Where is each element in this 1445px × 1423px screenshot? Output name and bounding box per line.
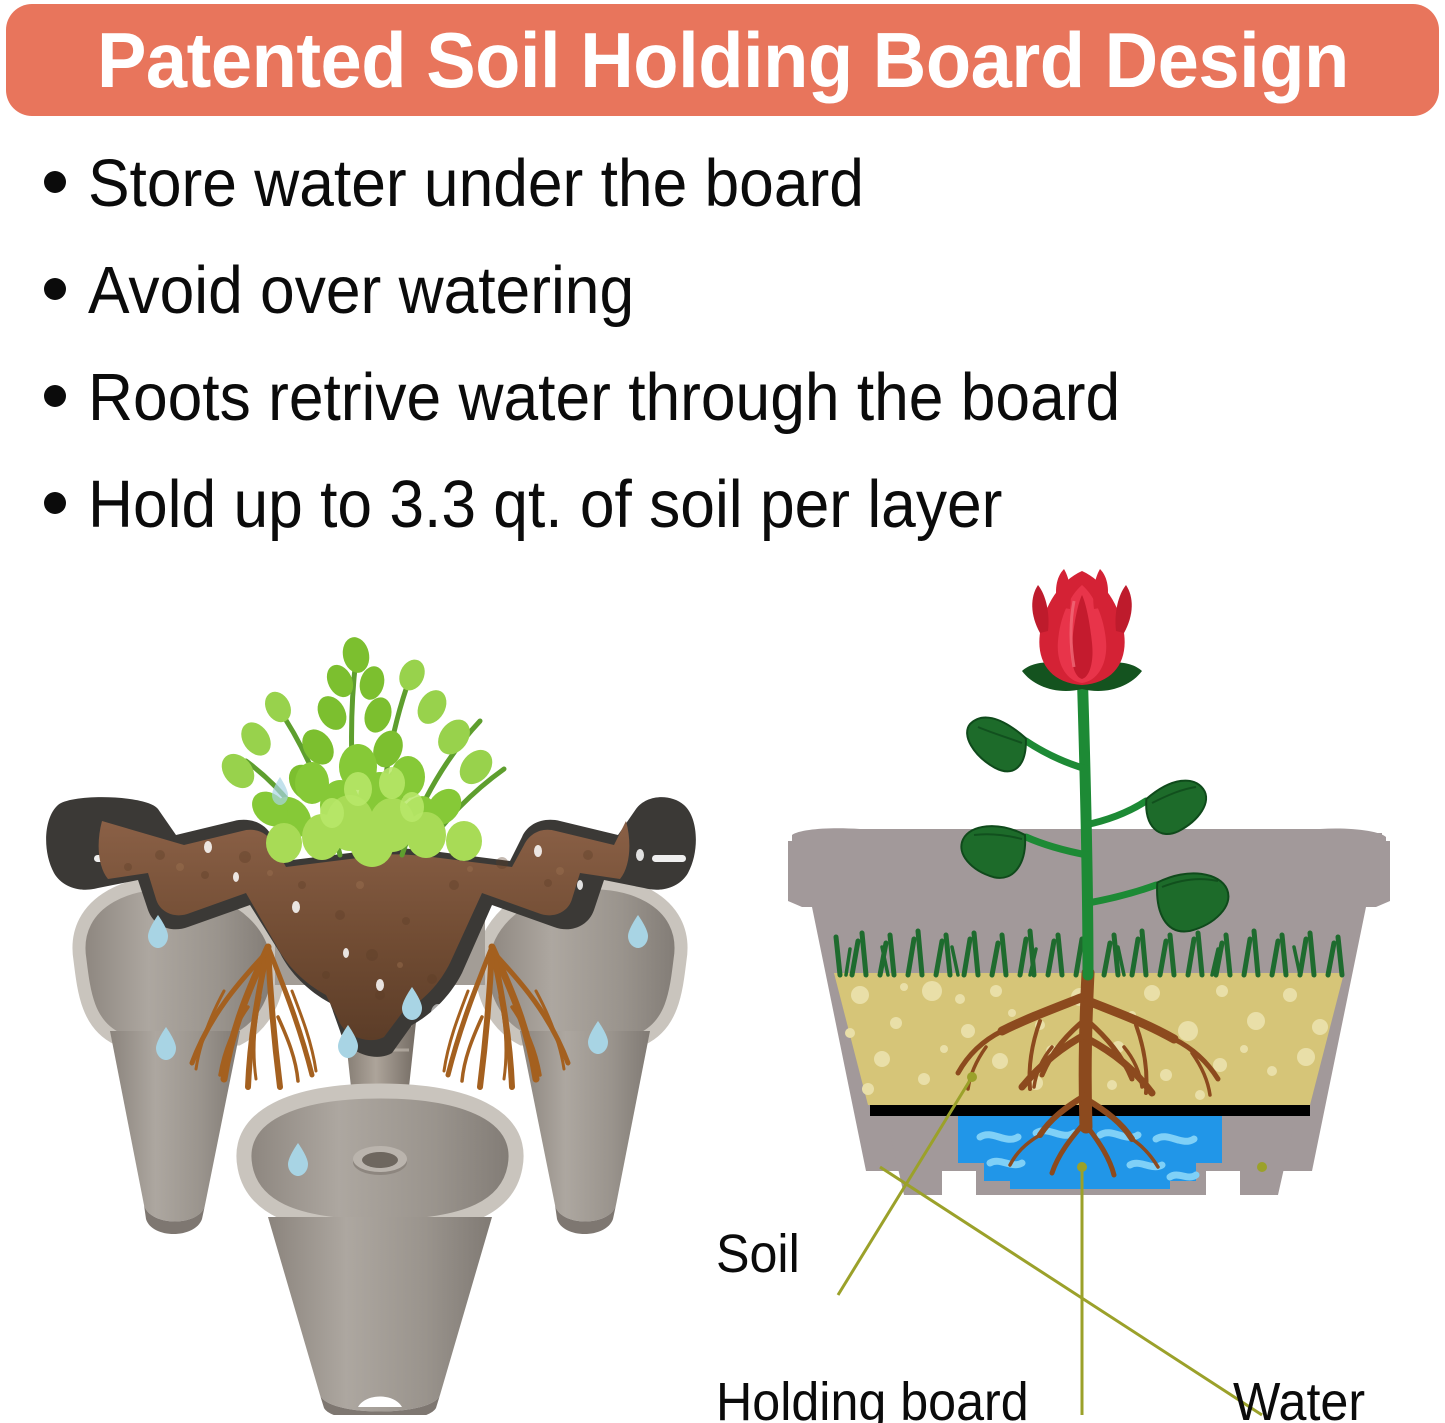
bullet-label: Roots retrive water through the board bbox=[88, 364, 1120, 431]
bullet-label: Hold up to 3.3 qt. of soil per layer bbox=[88, 471, 1002, 538]
bullet-dot-icon bbox=[44, 492, 66, 514]
bullet-dot-icon bbox=[44, 385, 66, 407]
diagram-label-water: Water bbox=[1233, 1375, 1365, 1423]
infographic-page: Patented Soil Holding Board Design Store… bbox=[0, 0, 1445, 1423]
list-item: Avoid over watering bbox=[44, 257, 1404, 364]
bullet-dot-icon bbox=[44, 278, 66, 300]
feature-bullet-list: Store water under the board Avoid over w… bbox=[44, 150, 1404, 578]
front-center-pot bbox=[244, 1091, 516, 1415]
rose-bloom bbox=[1032, 569, 1132, 685]
bullet-label: Store water under the board bbox=[88, 150, 864, 217]
diagram-label-holding-board: Holding board bbox=[716, 1375, 1029, 1423]
bullet-dot-icon bbox=[44, 171, 66, 193]
pot-cross-section-diagram: Soil Holding board Water bbox=[700, 555, 1445, 1423]
stackable-planter-product-photo bbox=[40, 555, 720, 1415]
list-item: Roots retrive water through the board bbox=[44, 364, 1404, 471]
illustration-area: Soil Holding board Water bbox=[0, 555, 1445, 1423]
diagram-label-soil: Soil bbox=[716, 1227, 800, 1281]
bullet-label: Avoid over watering bbox=[88, 257, 634, 324]
page-title: Patented Soil Holding Board Design bbox=[97, 21, 1349, 99]
list-item: Store water under the board bbox=[44, 150, 1404, 257]
header-banner: Patented Soil Holding Board Design bbox=[6, 4, 1439, 116]
